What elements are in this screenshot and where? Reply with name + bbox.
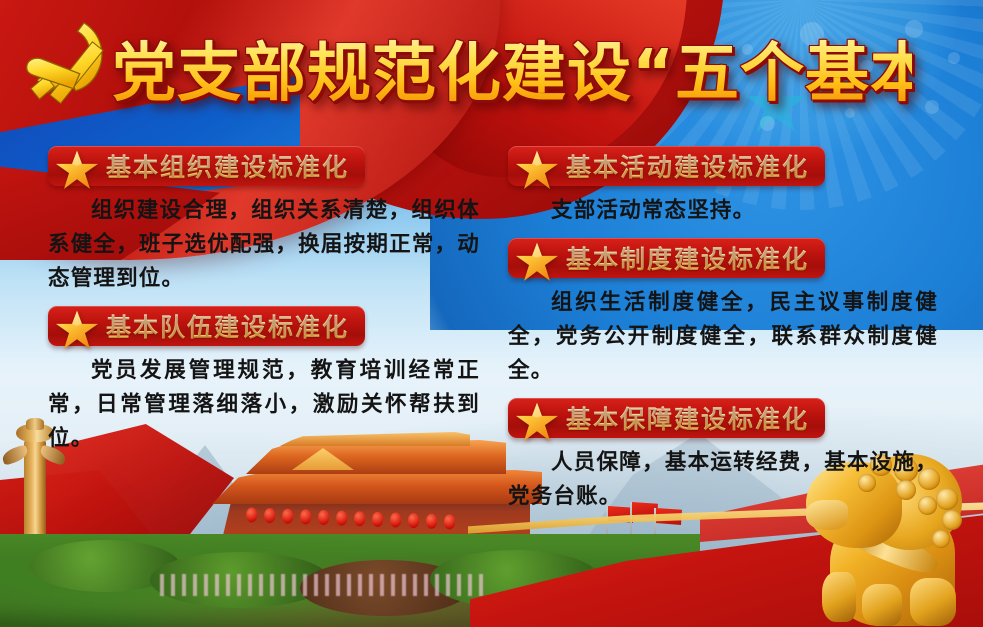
section-body-basic-system: 组织生活制度健全，民主议事制度健全，党务公开制度健全，联系群众制度健全。 <box>508 286 938 388</box>
column-right: 基本活动建设标准化 支部活动常态坚持。 基本制度建设标准化 组织生活制度健全，民… <box>508 146 948 524</box>
badge-label: 基本活动建设标准化 <box>566 148 809 184</box>
section-badge-basic-organization[interactable]: 基本组织建设标准化 <box>48 146 365 186</box>
badge-label: 基本保障建设标准化 <box>566 400 809 436</box>
section-body-basic-guarantee: 人员保障，基本运转经费，基本设施，党务台账。 <box>508 446 938 514</box>
gold-star-icon <box>56 149 98 191</box>
poster-canvas: 党支部规范化建设“五个基本” 中华人民共和国万岁 世界人民大团结万岁 <box>0 0 983 627</box>
section-badge-basic-guarantee[interactable]: 基本保障建设标准化 <box>508 398 825 438</box>
page-title: 党支部规范化建设“五个基本” <box>112 28 912 120</box>
section-badge-basic-team[interactable]: 基本队伍建设标准化 <box>48 306 365 346</box>
section-badge-basic-activity[interactable]: 基本活动建设标准化 <box>508 146 825 186</box>
content-area: 基本组织建设标准化 组织建设合理，组织关系清楚，组织体系健全，班子选优配强，换届… <box>0 146 983 486</box>
badge-label: 基本组织建设标准化 <box>106 148 349 184</box>
badge-label: 基本队伍建设标准化 <box>106 308 349 344</box>
flower-bed <box>160 574 490 596</box>
gold-star-icon <box>516 241 558 283</box>
gold-star-icon <box>56 309 98 351</box>
column-left: 基本组织建设标准化 组织建设合理，组织关系清楚，组织体系健全，班子选优配强，换届… <box>48 146 488 466</box>
hammer-and-sickle-icon <box>14 8 120 114</box>
section-body-basic-activity: 支部活动常态坚持。 <box>508 194 938 228</box>
badge-label: 基本制度建设标准化 <box>566 240 809 276</box>
section-body-basic-organization: 组织建设合理，组织关系清楚，组织体系健全，班子选优配强，换届按期正常，动态管理到… <box>48 194 480 296</box>
gold-star-icon <box>516 149 558 191</box>
gold-star-icon <box>516 401 558 443</box>
section-body-basic-team: 党员发展管理规范，教育培训经常正常，日常管理落细落小，激励关怀帮扶到位。 <box>48 354 480 456</box>
section-badge-basic-system[interactable]: 基本制度建设标准化 <box>508 238 825 278</box>
